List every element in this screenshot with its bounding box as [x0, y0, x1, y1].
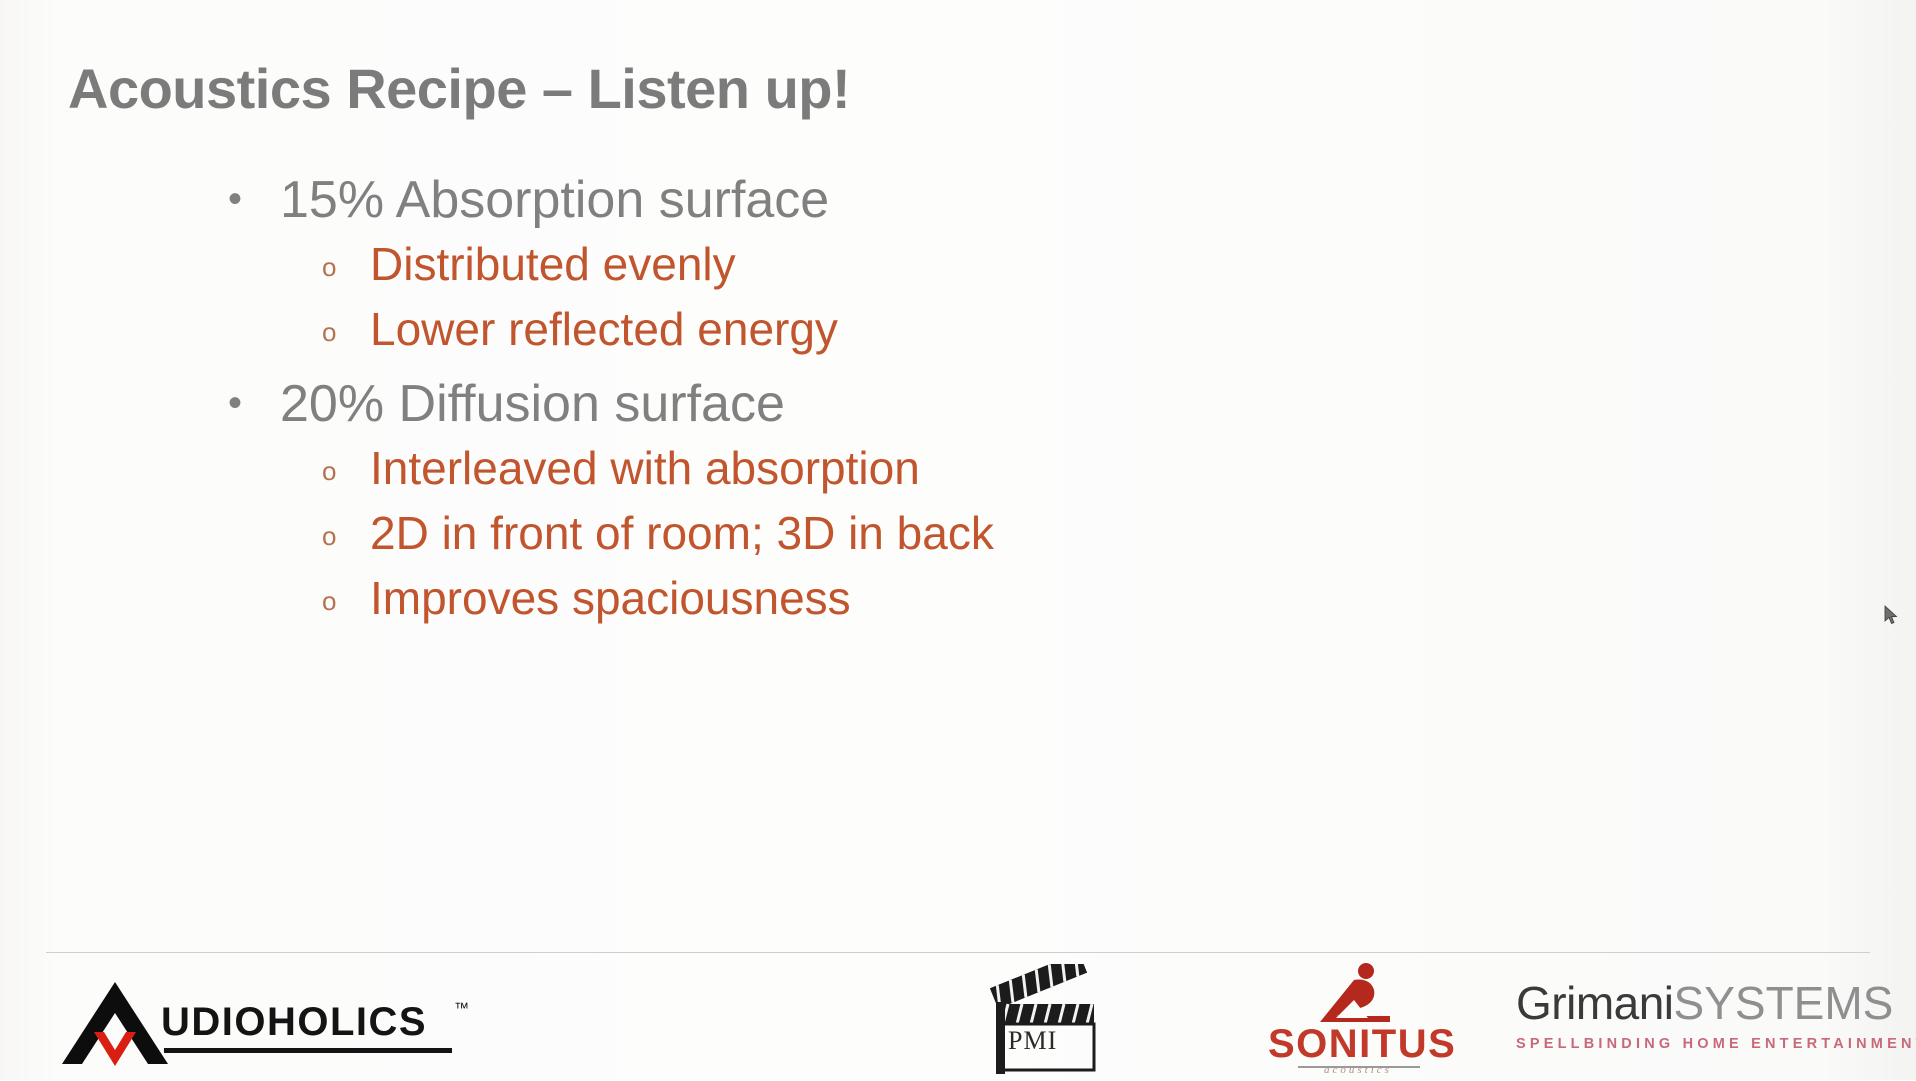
sonitus-wordmark: SONITUS [1268, 1022, 1448, 1067]
bullet-group: • 15% Absorption surface o Distributed e… [0, 170, 1916, 364]
grimani-tagline: SPELLBINDING HOME ENTERTAINMENT [1516, 1036, 1900, 1052]
bullet-level1-label: 20% Diffusion surface [280, 374, 785, 435]
mouse-cursor-icon [1884, 605, 1900, 627]
slide-body: • 15% Absorption surface o Distributed e… [0, 170, 1916, 642]
bullet-marker-circle: o [322, 571, 370, 632]
bullet-level1: • 15% Absorption surface [228, 170, 1916, 231]
bullet-marker-circle: o [322, 237, 370, 298]
pmi-logo: PMI [980, 964, 1100, 1076]
sonitus-logo: SONITUS acoustics [1268, 960, 1448, 1078]
pmi-wordmark: PMI [1008, 1026, 1057, 1056]
bullet-level1-label: 15% Absorption surface [280, 170, 829, 231]
footer-divider [46, 952, 1870, 953]
grimani-wordmark: GrimaniSYSTEMS [1516, 976, 1900, 1030]
sonitus-figure-icon [1268, 960, 1448, 1026]
bullet-group: • 20% Diffusion surface o Interleaved wi… [0, 374, 1916, 633]
bullet-marker-dot: • [228, 374, 280, 432]
presentation-slide: Acoustics Recipe – Listen up! • 15% Abso… [0, 0, 1916, 1080]
bullet-marker-dot: • [228, 170, 280, 228]
footer-logo-bar: UDIOHOLICS ™ [0, 958, 1916, 1080]
grimani-word-primary: Grimani [1516, 977, 1674, 1029]
bullet-level2: o 2D in front of room; 3D in back [322, 506, 1916, 567]
audioholics-chevron-icon [56, 980, 174, 1068]
grimani-systems-logo: GrimaniSYSTEMS SPELLBINDING HOME ENTERTA… [1516, 976, 1900, 1068]
bullet-level2-label: 2D in front of room; 3D in back [370, 506, 994, 561]
bullet-level2-label: Interleaved with absorption [370, 441, 920, 496]
audioholics-underline [164, 1048, 452, 1053]
bullet-level2: o Improves spaciousness [322, 571, 1916, 632]
slide-title: Acoustics Recipe – Listen up! [68, 56, 850, 121]
bullet-level2: o Distributed evenly [322, 237, 1916, 298]
bullet-level1: • 20% Diffusion surface [228, 374, 1916, 435]
grimani-word-secondary: SYSTEMS [1674, 977, 1894, 1029]
bullet-level2-label: Distributed evenly [370, 237, 736, 292]
bullet-marker-circle: o [322, 506, 370, 567]
clapperboard-icon [980, 964, 1100, 1076]
bullet-level2: o Lower reflected energy [322, 302, 1916, 363]
trademark-symbol: ™ [454, 1000, 469, 1017]
sonitus-subtitle: acoustics [1268, 1064, 1448, 1076]
bullet-level2-label: Improves spaciousness [370, 571, 851, 626]
bullet-level2-label: Lower reflected energy [370, 302, 838, 357]
bullet-marker-circle: o [322, 302, 370, 363]
bullet-level2: o Interleaved with absorption [322, 441, 1916, 502]
audioholics-logo: UDIOHOLICS ™ [56, 972, 476, 1072]
bullet-marker-circle: o [322, 441, 370, 502]
audioholics-wordmark: UDIOHOLICS [161, 1000, 427, 1045]
